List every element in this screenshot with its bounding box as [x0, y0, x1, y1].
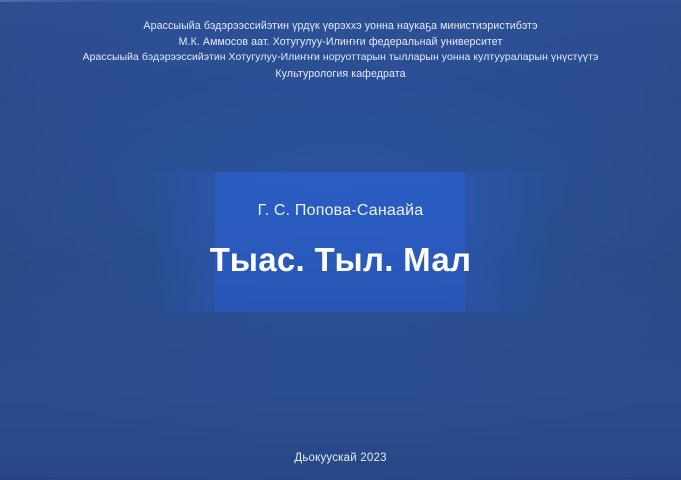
- affiliation-line-institute: Арассыыйа бэдэрээссийэтин Хотугулуу-Илиҥ…: [0, 50, 681, 66]
- page-title: Тыас. Тыл. Мал: [0, 240, 681, 280]
- affiliation-line-ministry: Арассыыйа бэдэрээссийэтин үрдүк үөрэххэ …: [0, 18, 681, 34]
- author-name: Г. С. Попова-Санаайа: [0, 200, 681, 222]
- affiliation-line-university: М.К. Аммосов аат. Хотугулуу-Илиҥҥи федер…: [0, 34, 681, 50]
- affiliation-block: Арассыыйа бэдэрээссийэтин үрдүк үөрэххэ …: [0, 18, 681, 82]
- imprint-place-year: Дьокуускай 2023: [0, 450, 681, 466]
- slide-content: Арассыыйа бэдэрээссийэтин үрдүк үөрэххэ …: [0, 0, 681, 480]
- affiliation-line-department: Культурология кафедрата: [0, 66, 681, 82]
- title-block: Г. С. Попова-Санаайа Тыас. Тыл. Мал: [0, 200, 681, 280]
- title-slide: Арассыыйа бэдэрээссийэтин үрдүк үөрэххэ …: [0, 0, 681, 480]
